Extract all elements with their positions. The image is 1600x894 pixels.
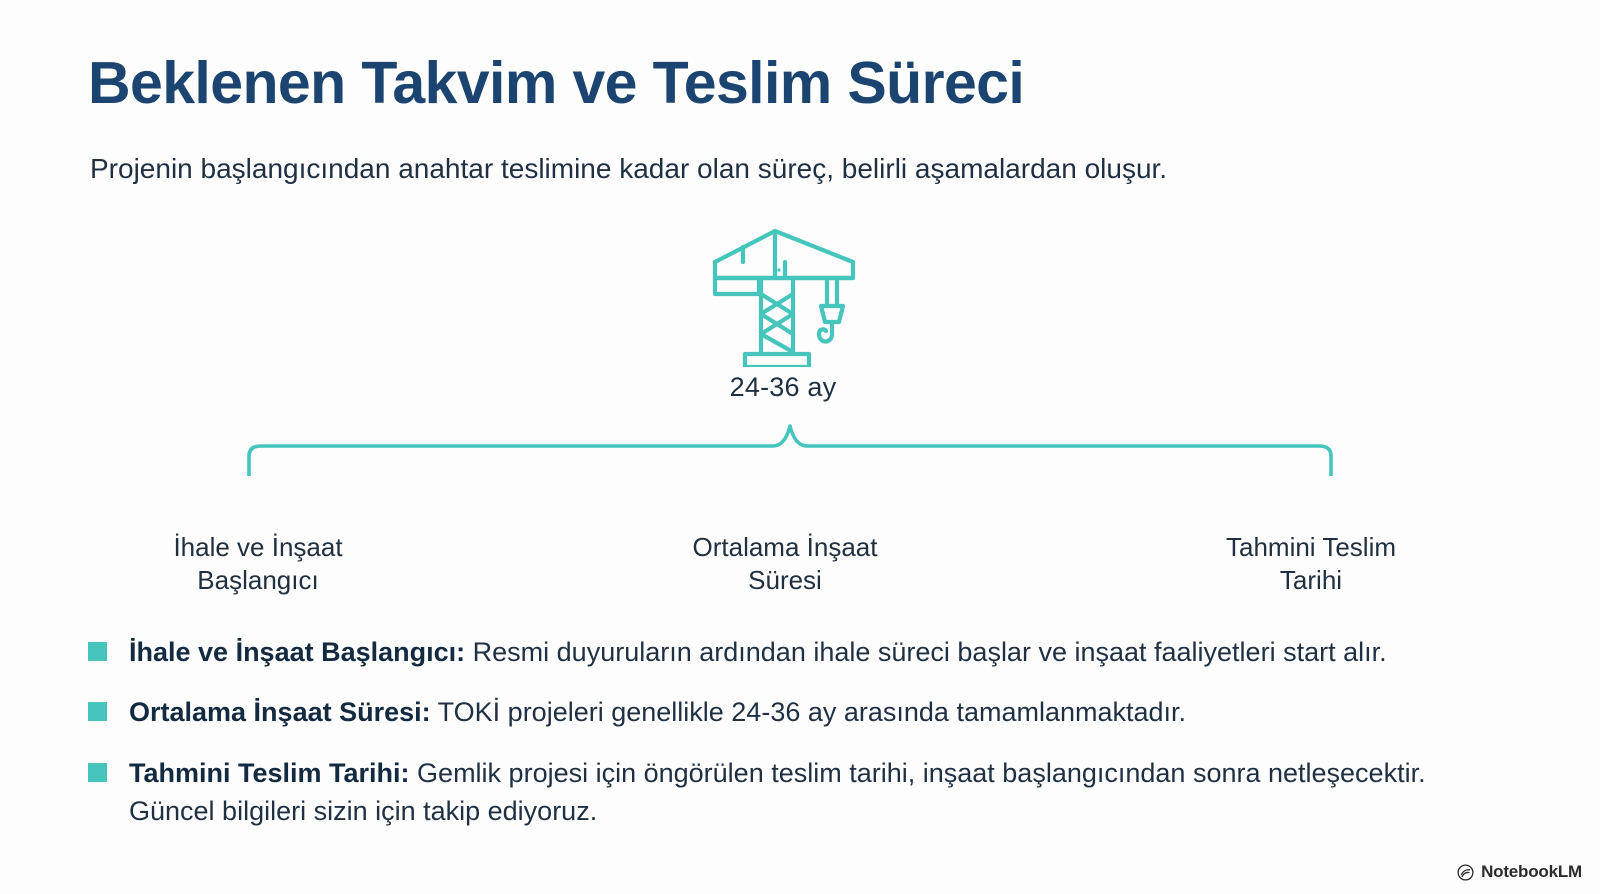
timeline-node-label-1-line1: İhale ve İnşaat — [93, 531, 423, 564]
bullet-square-icon — [88, 763, 107, 782]
timeline-node-label-3-line1: Tahmini Teslim — [1146, 531, 1476, 564]
bullet-square-icon — [88, 642, 107, 661]
timeline-node-label-1-line2: Başlangıcı — [93, 564, 423, 597]
list-item-text: İhale ve İnşaat Başlangıcı: Resmi duyuru… — [129, 633, 1518, 671]
construction-crane-icon — [703, 222, 863, 367]
list-item-description: Resmi duyuruların ardından ihale süreci … — [465, 637, 1386, 667]
notebooklm-watermark: NotebookLM — [1457, 862, 1582, 882]
list-item: İhale ve İnşaat Başlangıcı: Resmi duyuru… — [88, 633, 1518, 671]
list-item-term: Ortalama İnşaat Süresi: — [129, 697, 431, 727]
list-item: Ortalama İnşaat Süresi: TOKİ projeleri g… — [88, 693, 1518, 731]
bullet-square-icon — [88, 702, 107, 721]
list-item-text: Ortalama İnşaat Süresi: TOKİ projeleri g… — [129, 693, 1518, 731]
notebooklm-logo-icon — [1457, 864, 1474, 881]
list-item-term: Tahmini Teslim Tarihi: — [129, 758, 410, 788]
timeline-node-label-2-line2: Süresi — [620, 564, 950, 597]
timeline-node-label-2-line1: Ortalama İnşaat — [620, 531, 950, 564]
slide-canvas: Beklenen Takvim ve Teslim Süreci Projeni… — [0, 0, 1600, 894]
duration-label-text: 24-36 ay — [730, 372, 837, 403]
timeline — [0, 455, 1600, 535]
notebooklm-label: NotebookLM — [1481, 862, 1582, 882]
list-item-term: İhale ve İnşaat Başlangıcı: — [129, 637, 465, 667]
duration-label: 24-36 ay — [0, 372, 1600, 403]
timeline-node-label-2: Ortalama İnşaat Süresi — [620, 531, 950, 598]
bullet-list: İhale ve İnşaat Başlangıcı: Resmi duyuru… — [88, 633, 1518, 852]
list-item-text: Tahmini Teslim Tarihi: Gemlik projesi iç… — [129, 754, 1518, 831]
timeline-node-label-3-line2: Tarihi — [1146, 564, 1476, 597]
list-item-description: TOKİ projeleri genellikle 24-36 ay arası… — [431, 697, 1186, 727]
timeline-node-label-3: Tahmini Teslim Tarihi — [1146, 531, 1476, 598]
timeline-node-label-1: İhale ve İnşaat Başlangıcı — [93, 531, 423, 598]
page-title: Beklenen Takvim ve Teslim Süreci — [88, 52, 1024, 116]
list-item: Tahmini Teslim Tarihi: Gemlik projesi iç… — [88, 754, 1518, 831]
page-subtitle: Projenin başlangıcından anahtar teslimin… — [90, 151, 1167, 186]
